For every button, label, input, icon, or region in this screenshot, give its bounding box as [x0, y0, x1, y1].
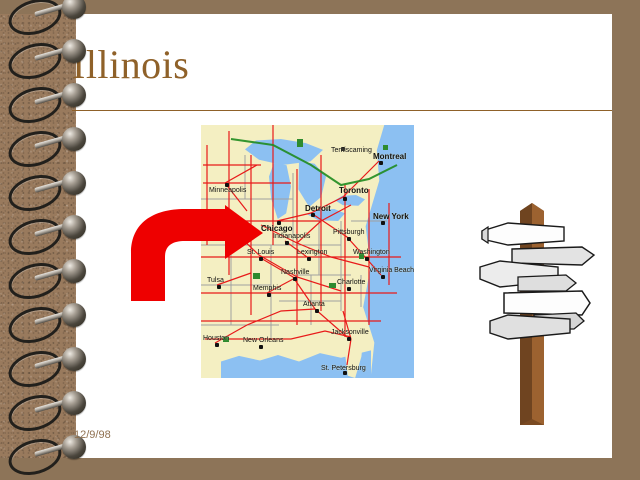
map-city-label: St. Petersburg [321, 365, 366, 372]
spiral-ring [4, 258, 100, 300]
slide-canvas: Illinois [0, 0, 640, 480]
map-city-label: Houston [203, 335, 229, 342]
spiral-ring-wire [4, 169, 65, 217]
red-curved-arrow [129, 205, 269, 301]
map-city-dot [347, 337, 351, 341]
spiral-ring-wire [4, 389, 65, 437]
map-city-label: Virginia Beach [369, 267, 414, 274]
spiral-ring-wire [4, 125, 65, 173]
spiral-ring-head [62, 39, 86, 63]
map-city-dot [315, 309, 319, 313]
spiral-ring-wire [4, 345, 65, 393]
spiral-ring [4, 170, 100, 212]
map-city-dot [343, 197, 347, 201]
spiral-ring [4, 126, 100, 168]
map-city-dot [285, 241, 289, 245]
spiral-ring [4, 82, 100, 124]
map-city-dot [347, 287, 351, 291]
spiral-ring [4, 390, 100, 432]
spiral-ring-head [62, 83, 86, 107]
spiral-ring-head [62, 0, 86, 19]
spiral-binding [0, 0, 110, 480]
map-green-area-4 [329, 283, 336, 288]
spiral-ring-wire [4, 301, 65, 349]
map-green-area-1 [297, 139, 303, 147]
map-city-label: New York [373, 213, 409, 220]
spiral-ring [4, 302, 100, 344]
map-city-label: Washington [353, 249, 390, 256]
map-city-label: Jacksonville [331, 329, 369, 336]
slide-date: 12/9/98 [74, 429, 111, 441]
signpost-graphic [478, 197, 606, 429]
map-city-dot [293, 277, 297, 281]
spiral-ring-head [62, 259, 86, 283]
spiral-ring-wire [4, 81, 65, 129]
spiral-ring [4, 346, 100, 388]
map-city-dot [307, 257, 311, 261]
frame-band-right [612, 0, 640, 480]
map-city-dot [381, 275, 385, 279]
map-city-label: Montreal [373, 153, 406, 160]
map-city-dot [365, 257, 369, 261]
spiral-ring [4, 0, 100, 36]
spiral-ring-head [62, 215, 86, 239]
spiral-ring-head [62, 171, 86, 195]
map-city-label: Toronto [339, 187, 369, 194]
map-city-dot [311, 213, 315, 217]
map-green-area-2 [383, 145, 388, 150]
title-underline-rule [72, 110, 612, 111]
map-city-dot [379, 161, 383, 165]
map-city-label: Temiscaming [331, 147, 372, 154]
map-city-label: Charlotte [337, 279, 365, 286]
spiral-ring-head [62, 391, 86, 415]
map-city-dot [347, 237, 351, 241]
map-city-dot [215, 343, 219, 347]
map-city-label: Minneapolis [209, 187, 246, 194]
map-city-dot [259, 345, 263, 349]
spiral-ring-wire [4, 433, 65, 480]
spiral-ring-head [62, 347, 86, 371]
spiral-ring [4, 214, 100, 256]
spiral-ring-wire [4, 37, 65, 85]
map-city-label: Pittsburgh [333, 229, 365, 236]
map-city-label: Nashville [281, 269, 309, 276]
map-city-label: Atlanta [303, 301, 325, 308]
map-city-label: Detroit [305, 205, 331, 212]
spiral-ring-head [62, 303, 86, 327]
spiral-ring-wire [4, 213, 65, 261]
spiral-ring [4, 38, 100, 80]
map-city-label: Lexington [297, 249, 327, 256]
map-city-dot [381, 221, 385, 225]
map-city-label: New Orleans [243, 337, 283, 344]
map-city-label: Indianapolis [273, 233, 310, 240]
spiral-ring-head [62, 127, 86, 151]
spiral-ring-wire [4, 257, 65, 305]
